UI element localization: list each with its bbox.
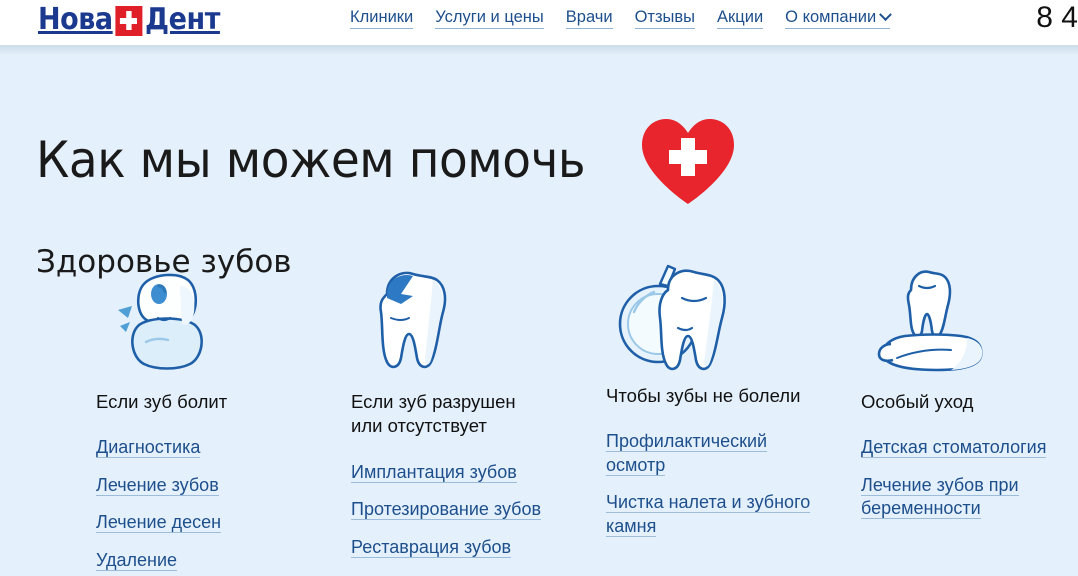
hand-holding-tooth-icon: [861, 262, 1078, 374]
card-title: Чтобы зубы не болели: [606, 384, 806, 408]
link-label: Лечение зубов: [96, 475, 219, 496]
card-links: Профилактический осмотр Чистка налета и …: [606, 430, 861, 538]
nav-label: О компании: [785, 8, 876, 27]
page-root: Нова Дент Клиники Услуги и цены Врачи От…: [0, 0, 1078, 576]
nav-label: Клиники: [350, 8, 413, 27]
link-label: Лечение зубов при беременности: [861, 475, 1019, 519]
link-lechenie-desen[interactable]: Лечение десен: [96, 511, 311, 534]
link-label: Лечение десен: [96, 512, 221, 533]
header-phone-number[interactable]: 8 4: [1036, 1, 1078, 35]
nav-item-vrachi[interactable]: Врачи: [566, 8, 613, 29]
nav-item-uslugi-i-ceny[interactable]: Услуги и цены: [435, 8, 544, 29]
link-chistka-naleta[interactable]: Чистка налета и зубного камня: [606, 491, 821, 538]
page-title: Как мы можем помочь: [36, 134, 585, 187]
card-links: Имплантация зубов Протезирование зубов Р…: [351, 461, 606, 559]
link-udalenie[interactable]: Удаление: [96, 549, 311, 572]
nav-item-o-kompanii[interactable]: О компании: [785, 8, 890, 29]
site-header: Нова Дент Клиники Услуги и цены Врачи От…: [0, 0, 1078, 45]
link-lechenie-zubov[interactable]: Лечение зубов: [96, 474, 311, 497]
link-label: Профилактический осмотр: [606, 431, 767, 475]
service-card-prevention: Чтобы зубы не болели Профилактический ос…: [606, 262, 861, 552]
service-card-aching-tooth: Если зуб болит Диагностика Лечение зубов…: [96, 262, 351, 576]
tooth-with-mirror-icon: [606, 262, 861, 374]
nav-label: Отзывы: [635, 8, 695, 27]
service-card-special-care: Особый уход Детская стоматология Лечение…: [861, 262, 1078, 535]
card-title: Если зуб разрушен или отсутствует: [351, 390, 551, 439]
heart-with-cross-icon: [638, 117, 738, 203]
aching-tooth-icon: [96, 262, 351, 374]
link-label: Протезирование зубов: [351, 499, 541, 520]
logo-text-left: Нова: [38, 2, 113, 37]
chevron-down-icon: [879, 8, 892, 21]
hero-block: Как мы можем помочь: [36, 100, 738, 220]
card-links: Диагностика Лечение зубов Лечение десен …: [96, 436, 351, 572]
link-label: Детская стоматология: [861, 437, 1046, 458]
link-label: Чистка налета и зубного камня: [606, 492, 810, 536]
link-implantaciya-zubov[interactable]: Имплантация зубов: [351, 461, 566, 484]
link-diagnostika[interactable]: Диагностика: [96, 436, 311, 459]
card-links: Детская стоматология Лечение зубов при б…: [861, 436, 1078, 520]
logo-cross-icon: [115, 6, 142, 36]
link-label: Имплантация зубов: [351, 462, 517, 483]
nav-label: Врачи: [566, 8, 613, 27]
link-profilakticheskiy-osmotr[interactable]: Профилактический осмотр: [606, 430, 821, 477]
broken-tooth-icon: [351, 262, 606, 374]
link-restavraciya-zubov[interactable]: Реставрация зубов: [351, 536, 566, 559]
link-label: Диагностика: [96, 437, 200, 458]
nav-item-otzyvy[interactable]: Отзывы: [635, 8, 695, 29]
link-label: Удаление: [96, 550, 177, 571]
nav-label: Акции: [717, 8, 763, 27]
link-protezirovanie-zubov[interactable]: Протезирование зубов: [351, 498, 566, 521]
link-detskaya-stomatologiya[interactable]: Детская стоматология: [861, 436, 1076, 459]
logo-text-right: Дент: [145, 2, 220, 37]
nav-item-kliniki[interactable]: Клиники: [350, 8, 413, 29]
card-title: Особый уход: [861, 390, 1061, 414]
nav-label: Услуги и цены: [435, 8, 544, 27]
services-grid: Если зуб болит Диагностика Лечение зубов…: [96, 262, 1078, 576]
card-title: Если зуб болит: [96, 390, 296, 414]
site-logo[interactable]: Нова Дент: [38, 2, 220, 37]
service-card-broken-tooth: Если зуб разрушен или отсутствует Имплан…: [351, 262, 606, 573]
header-shadow: [0, 45, 1078, 55]
main-nav: Клиники Услуги и цены Врачи Отзывы Акции…: [350, 8, 890, 29]
link-label: Реставрация зубов: [351, 537, 511, 558]
link-lechenie-pri-beremennosti[interactable]: Лечение зубов при беременности: [861, 474, 1076, 521]
nav-item-akcii[interactable]: Акции: [717, 8, 763, 29]
